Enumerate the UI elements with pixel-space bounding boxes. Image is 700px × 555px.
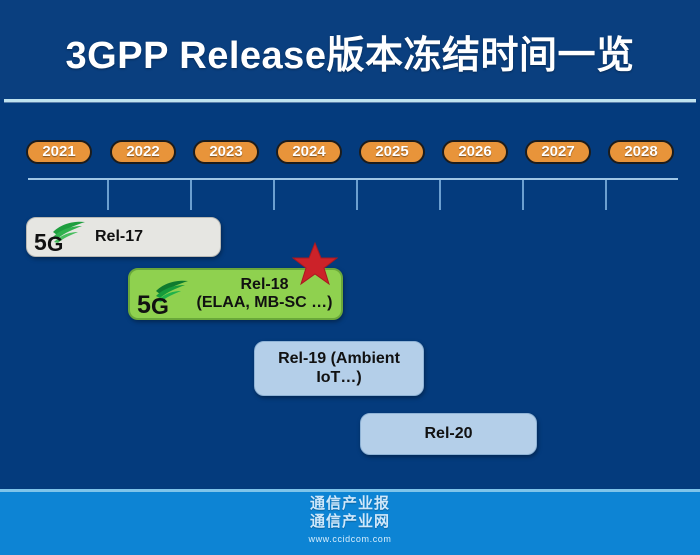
year-badge-2028[interactable]: 2028	[608, 140, 674, 164]
year-badge-2022[interactable]: 2022	[110, 140, 176, 164]
svg-text:G: G	[47, 233, 63, 254]
svg-text:5: 5	[34, 229, 47, 254]
svg-text:5: 5	[137, 291, 151, 317]
release-label-rel-19-line1: Rel-19 (Ambient	[278, 350, 400, 367]
release-bar-rel-17[interactable]: 5 G Rel-17	[26, 217, 221, 257]
axis-tick-3	[273, 180, 275, 210]
five-g-logo-icon: 5 G	[136, 277, 194, 311]
release-label-rel-20: Rel-20	[361, 425, 536, 443]
svg-text:G: G	[151, 293, 169, 317]
release-label-rel-19: Rel-19 (Ambient IoT…)	[255, 350, 423, 387]
axis-tick-7	[605, 180, 607, 210]
release-label-rel-19-line2: IoT…)	[261, 369, 417, 387]
timeline-axis: 2021 2022 2023 2024 2025 2026 2027 2028	[0, 104, 700, 209]
release-label-rel-18-line2: (ELAA, MB-SC …)	[194, 294, 335, 312]
axis-tick-4	[356, 180, 358, 210]
red-star-icon	[292, 242, 338, 286]
year-badge-row: 2021 2022 2023 2024 2025 2026 2027 2028	[26, 140, 682, 166]
year-badge-2023[interactable]: 2023	[193, 140, 259, 164]
year-badge-2021[interactable]: 2021	[26, 140, 92, 164]
publisher-name-line1: 通信产业报	[0, 495, 700, 513]
year-badge-2025[interactable]: 2025	[359, 140, 425, 164]
release-label-rel-18-line1: Rel-18	[240, 276, 288, 293]
axis-baseline	[28, 178, 678, 180]
slide-root: 3GPP Release版本冻结时间一览 2021 2022 2023 2024…	[0, 0, 700, 555]
axis-tick-2	[190, 180, 192, 210]
axis-tick-1	[107, 180, 109, 210]
release-bar-rel-19[interactable]: Rel-19 (Ambient IoT…)	[254, 341, 424, 396]
axis-tick-6	[522, 180, 524, 210]
year-badge-2024[interactable]: 2024	[276, 140, 342, 164]
publisher-watermark: 通信产业报 通信产业网 www.ccidcom.com	[0, 495, 700, 546]
publisher-url: www.ccidcom.com	[0, 532, 700, 546]
year-badge-2027[interactable]: 2027	[525, 140, 591, 164]
release-label-rel-17: Rel-17	[91, 228, 220, 246]
page-title: 3GPP Release版本冻结时间一览	[0, 24, 700, 79]
axis-tick-5	[439, 180, 441, 210]
five-g-logo-icon: 5 G	[33, 220, 91, 254]
header-divider	[4, 99, 696, 102]
year-badge-2026[interactable]: 2026	[442, 140, 508, 164]
release-bar-rel-20[interactable]: Rel-20	[360, 413, 537, 455]
publisher-name-line2: 通信产业网	[0, 513, 700, 531]
